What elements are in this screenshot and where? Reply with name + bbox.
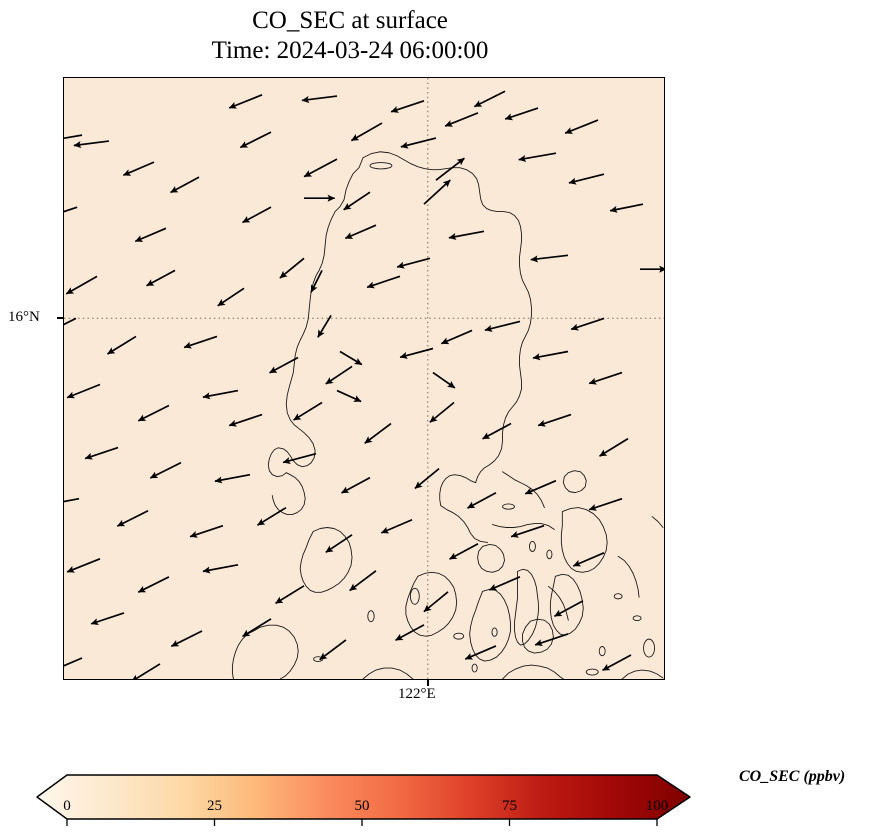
wind-vector-arrow xyxy=(430,403,454,423)
wind-vector-arrow xyxy=(215,475,250,482)
wind-vector-arrow xyxy=(320,640,346,660)
lat-tick-mark xyxy=(57,317,63,319)
coastline-visayas-extra xyxy=(493,517,663,621)
wind-vector-arrow xyxy=(66,276,97,294)
wind-vector-arrow xyxy=(424,180,450,204)
wind-vector-arrow xyxy=(326,366,352,384)
wind-vector-arrow xyxy=(138,406,169,421)
wind-vector-arrow xyxy=(589,373,622,384)
wind-vector-arrow xyxy=(304,159,337,177)
wind-vector-arrow xyxy=(147,270,176,285)
wind-vector-arrow xyxy=(367,276,400,287)
wind-vector-arrow xyxy=(365,424,391,444)
coastline-bicol xyxy=(441,472,545,543)
wind-vector-arrow xyxy=(433,373,455,388)
wind-vector-arrow xyxy=(85,448,118,459)
wind-vector-arrow xyxy=(391,101,424,112)
wind-vector-arrow xyxy=(569,174,604,183)
wind-vector-arrow xyxy=(400,348,433,357)
wind-vector-arrow xyxy=(67,384,100,397)
wind-vector-arrow xyxy=(243,619,272,637)
wind-vector-arrow xyxy=(218,288,244,306)
wind-vector-arrow xyxy=(229,95,262,108)
wind-vector-arrow xyxy=(64,207,77,218)
wind-vector-arrow xyxy=(135,228,166,241)
coastline-islets xyxy=(314,163,655,675)
wind-vector-arrow xyxy=(525,481,556,494)
coastline-mindoro xyxy=(300,528,352,593)
figure-title: CO_SEC at surface Time: 2024-03-24 06:00… xyxy=(0,6,700,66)
colorbar-tick-label: 50 xyxy=(355,798,370,815)
wind-vector-arrow xyxy=(341,478,370,493)
wind-vector-arrow xyxy=(344,192,370,210)
wind-vector-arrow xyxy=(519,153,556,160)
wind-vector-arrow xyxy=(302,96,337,100)
coastline-leyte xyxy=(550,574,583,635)
wind-vector-arrow xyxy=(190,526,223,537)
colorbar-tick-marks xyxy=(67,819,657,826)
wind-vector-arrow xyxy=(589,499,622,510)
wind-vector-arrow xyxy=(117,511,148,526)
map-panel xyxy=(63,77,665,680)
wind-vector-arrow xyxy=(64,499,79,506)
wind-vector-arrow xyxy=(229,415,262,426)
wind-vector-arrow xyxy=(350,571,376,591)
wind-vector-arrow xyxy=(150,463,181,478)
coastline-mindanao-north xyxy=(363,665,663,679)
wind-vector-arrow xyxy=(67,559,100,572)
coastline-cebu xyxy=(514,569,538,645)
wind-vector-arrow xyxy=(340,351,362,364)
coastline-samar xyxy=(561,508,607,573)
map-canvas xyxy=(64,78,664,679)
lon-tick-label: 122°E xyxy=(398,686,436,703)
coastline-masbate xyxy=(478,544,505,572)
wind-vector-overlay xyxy=(64,91,664,679)
wind-vector-arrow xyxy=(401,138,436,147)
wind-vector-arrow xyxy=(171,177,200,192)
wind-vector-arrow xyxy=(64,318,76,333)
wind-vector-arrow xyxy=(483,424,512,439)
wind-vector-arrow xyxy=(449,231,484,238)
wind-vector-arrow xyxy=(600,439,629,457)
wind-vector-arrow xyxy=(74,141,109,145)
wind-vector-arrow xyxy=(573,553,604,566)
wind-vector-arrow xyxy=(489,577,520,590)
colorbar-tick-label: 75 xyxy=(502,798,517,815)
lat-tick-label: 16°N xyxy=(8,309,40,326)
colorbar-tick-label: 0 xyxy=(63,798,71,815)
wind-vector-arrow xyxy=(257,508,286,526)
wind-vector-arrow xyxy=(171,631,202,646)
wind-vector-arrow xyxy=(326,535,352,553)
wind-vector-arrow xyxy=(441,330,472,343)
wind-vector-arrow xyxy=(467,493,496,508)
wind-vector-arrow xyxy=(415,469,439,489)
wind-vector-arrow xyxy=(571,318,604,329)
wind-vector-arrow xyxy=(123,162,154,175)
wind-vector-arrow xyxy=(603,655,632,670)
wind-vector-arrow xyxy=(311,270,322,292)
wind-vector-arrow xyxy=(283,454,316,463)
wind-vector-arrow xyxy=(337,391,361,402)
colorbar-title: CO_SEC (ppbv) xyxy=(739,768,845,786)
coastline-negros xyxy=(470,589,511,661)
wind-vector-arrow xyxy=(538,415,571,426)
coastline-catanduanes xyxy=(563,471,586,493)
wind-vector-arrow xyxy=(485,321,520,330)
wind-vector-arrow xyxy=(107,336,136,354)
map-axes-frame xyxy=(63,77,665,680)
wind-vector-arrow xyxy=(533,351,568,358)
wind-vector-arrow xyxy=(531,255,568,259)
wind-vector-arrow xyxy=(64,658,82,671)
wind-vector-arrow xyxy=(203,391,238,398)
title-line-variable: CO_SEC at surface xyxy=(0,6,700,36)
wind-vector-arrow xyxy=(450,544,479,559)
wind-vector-arrow xyxy=(505,108,538,119)
title-line-time: Time: 2024-03-24 06:00:00 xyxy=(0,36,700,66)
wind-vector-arrow xyxy=(397,258,430,267)
graticule xyxy=(64,78,664,679)
wind-vector-arrow xyxy=(64,135,82,142)
wind-vector-arrow xyxy=(131,664,160,679)
wind-vector-arrow xyxy=(345,225,376,238)
wind-vector-arrow xyxy=(280,258,304,278)
wind-vector-arrow xyxy=(395,625,424,640)
wind-vector-arrow xyxy=(91,613,124,624)
wind-vector-arrow xyxy=(243,207,272,222)
colorbar-tick-label: 100 xyxy=(646,798,669,815)
coastline-palawan xyxy=(232,625,298,679)
wind-vector-arrow xyxy=(565,120,598,133)
wind-vector-arrow xyxy=(138,577,169,592)
wind-vector-arrow xyxy=(275,586,304,604)
wind-vector-arrow xyxy=(424,592,448,612)
wind-vector-arrow xyxy=(445,113,478,126)
coastline-lingayen-gulf xyxy=(272,473,305,515)
wind-vector-arrow xyxy=(381,520,412,533)
wind-vector-arrow xyxy=(203,565,238,572)
wind-vector-arrow xyxy=(554,601,583,616)
wind-vector-arrow xyxy=(351,123,382,141)
coastline-bohol xyxy=(522,619,553,653)
wind-vector-arrow xyxy=(610,204,643,211)
wind-vector-arrow xyxy=(240,132,271,147)
wind-vector-arrow xyxy=(184,336,217,347)
wind-vector-arrow xyxy=(318,315,331,337)
coastlines xyxy=(232,152,663,679)
wind-vector-arrow xyxy=(474,91,505,106)
wind-vector-arrow xyxy=(294,403,323,421)
colorbar-tick-label: 25 xyxy=(207,798,222,815)
wind-vector-arrow xyxy=(465,646,496,659)
